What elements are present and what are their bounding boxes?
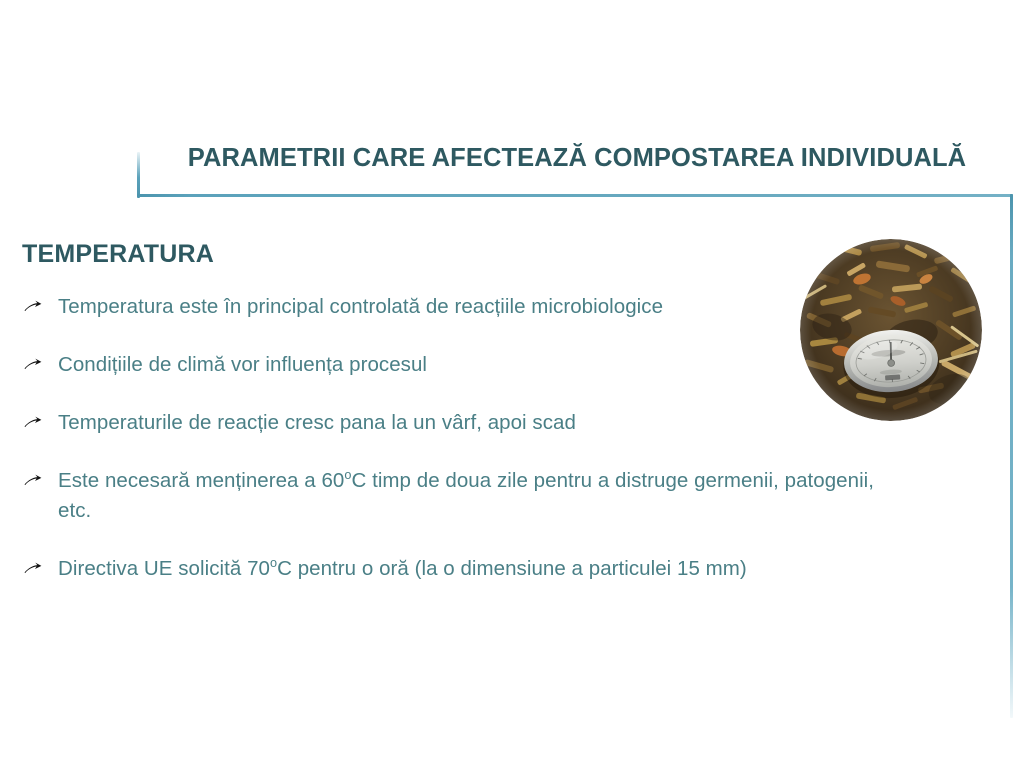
list-item: Este necesară menținerea a 60oC timp de … bbox=[22, 466, 882, 526]
curved-arrow-bullet-icon bbox=[22, 465, 58, 486]
frame-right-vertical-line bbox=[1010, 194, 1013, 718]
compost-thermometer-photo bbox=[800, 239, 982, 421]
list-item-text: Temperaturile de reacție cresc pana la u… bbox=[58, 408, 882, 438]
bullet-list: Temperatura este în principal controlată… bbox=[22, 292, 882, 612]
list-item-text-after: C pentru o oră (la o dimensiune a partic… bbox=[277, 557, 747, 580]
frame-horizontal-line bbox=[137, 194, 1013, 197]
frame-left-vertical-line bbox=[137, 152, 140, 198]
list-item-text: Temperatura este în principal controlată… bbox=[58, 292, 882, 322]
list-item: Temperaturile de reacție cresc pana la u… bbox=[22, 408, 882, 438]
section-heading-temperatura: TEMPERATURA bbox=[22, 240, 214, 269]
curved-arrow-bullet-icon bbox=[22, 291, 58, 312]
list-item-text-before: Directiva UE solicită 70 bbox=[58, 557, 270, 580]
slide-canvas: PARAMETRII CARE AFECTEAZĂ COMPOSTAREA IN… bbox=[0, 0, 1024, 768]
list-item-text-before: Este necesară menținerea a 60 bbox=[58, 469, 344, 492]
list-item-text: Condițiile de climă vor influența proces… bbox=[58, 350, 882, 380]
list-item-text: Directiva UE solicită 70oC pentru o oră … bbox=[58, 554, 882, 584]
list-item: Directiva UE solicită 70oC pentru o oră … bbox=[22, 554, 882, 584]
photo-circle-mask bbox=[800, 239, 982, 421]
slide-title: PARAMETRII CARE AFECTEAZĂ COMPOSTAREA IN… bbox=[152, 144, 1002, 173]
list-item: Condițiile de climă vor influența proces… bbox=[22, 350, 882, 380]
curved-arrow-bullet-icon bbox=[22, 553, 58, 574]
curved-arrow-bullet-icon bbox=[22, 407, 58, 428]
list-item-text: Este necesară menținerea a 60oC timp de … bbox=[58, 466, 882, 526]
list-item: Temperatura este în principal controlată… bbox=[22, 292, 882, 322]
curved-arrow-bullet-icon bbox=[22, 349, 58, 370]
